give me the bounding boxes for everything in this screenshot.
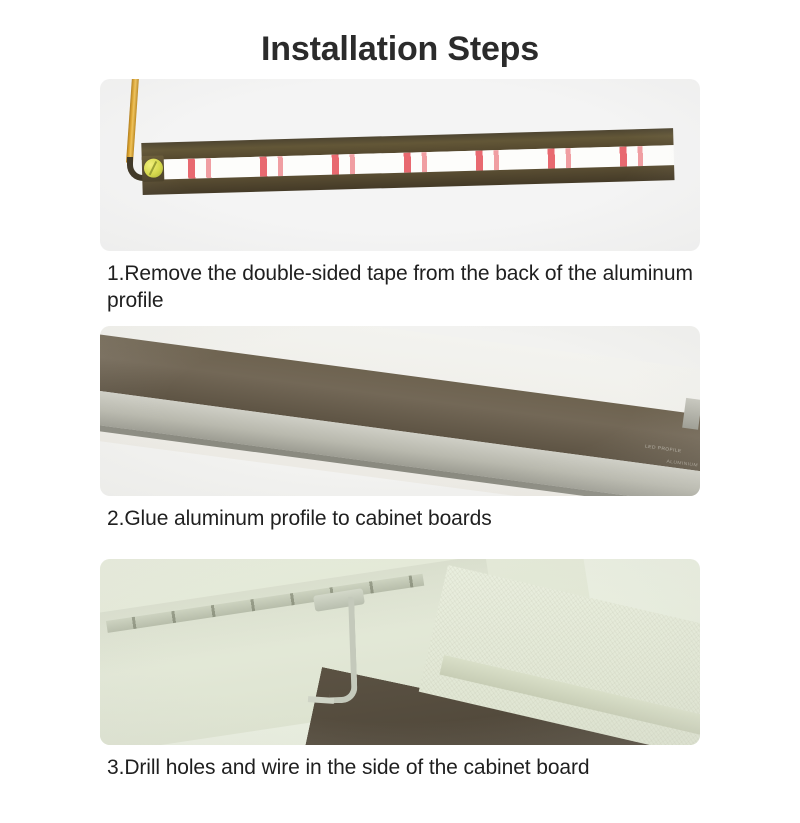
- routed-wire: [326, 596, 358, 703]
- step-caption-1: 1.Remove the double-sided tape from the …: [100, 260, 700, 314]
- sticker-mark: [149, 161, 157, 175]
- aluminum-profile-with-tape-photo: [100, 79, 700, 251]
- step-caption-3: 3.Drill holes and wire in the side of th…: [100, 754, 700, 781]
- step-item-3: 3.Drill holes and wire in the side of th…: [100, 559, 700, 781]
- photo-1-scene: [100, 79, 700, 251]
- profile-right-end-cap: [682, 398, 700, 430]
- installation-steps-page: Installation Steps: [0, 23, 800, 823]
- drilled-hole-wire-routing-photo: [100, 559, 700, 745]
- step-item-2: LED PROFILE ALUMINIUM 2.Glue aluminum pr…: [100, 326, 700, 532]
- aluminum-profile-body: [141, 128, 674, 195]
- ribbon-wire: [126, 79, 139, 163]
- step-item-1: 1.Remove the double-sided tape from the …: [100, 79, 700, 314]
- round-label-sticker: [144, 158, 164, 178]
- profile-glued-to-cabinet-board-photo: LED PROFILE ALUMINIUM: [100, 326, 700, 496]
- profile-printed-marking-1: LED PROFILE: [645, 444, 682, 454]
- page-title: Installation Steps: [0, 23, 800, 71]
- step-caption-2: 2.Glue aluminum profile to cabinet board…: [100, 505, 700, 532]
